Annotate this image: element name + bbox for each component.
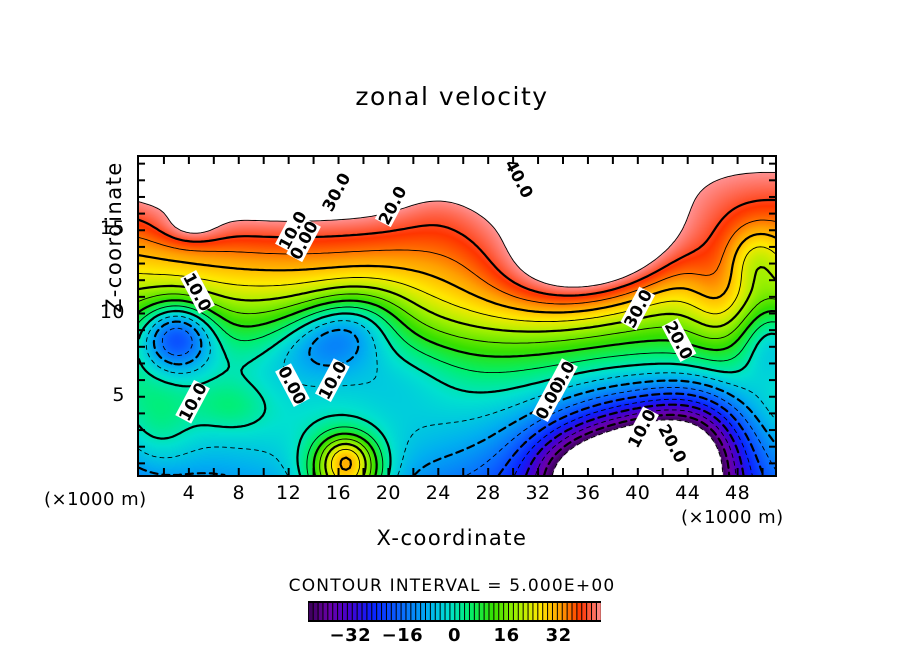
x-axis-tick: 12 [264,482,314,504]
colorbar-tick: −16 [372,625,432,646]
x-axis-tick: 24 [413,482,463,504]
colorbar-swatches [308,601,601,622]
x-axis-tick: 16 [314,482,364,504]
x-axis-tick: 48 [713,482,763,504]
plot-frame: 40.030.030.020.020.010.010.010.010.010.0… [137,155,777,477]
x-axis-tick: 28 [463,482,513,504]
x-axis-tick: 8 [214,482,264,504]
colorbar: −32−1601632 [308,601,601,622]
colorbar-tick: 16 [477,625,537,646]
y-axis-tick: 15 [85,217,125,239]
y-axis-tick: 5 [85,384,125,406]
colorbar-tick: 0 [425,625,485,646]
x-axis-title: X-coordinate [0,526,904,550]
chart-title: zonal velocity [0,82,904,111]
x-axis-unit-right: (×1000 m) [681,507,784,528]
colorbar-tick: −32 [320,625,380,646]
x-axis-tick: 36 [563,482,613,504]
x-axis-unit-left: (×1000 m) [44,489,147,510]
colorbar-tick: 32 [529,625,589,646]
figure-canvas: zonal velocity 40.030.030.020.020.010.01… [0,0,904,654]
plot-area: 40.030.030.020.020.010.010.010.010.010.0… [137,155,777,477]
x-axis-tick: 20 [363,482,413,504]
x-axis-tick: 32 [513,482,563,504]
x-axis-tick: 40 [613,482,663,504]
contour-field: 40.030.030.020.020.010.010.010.010.010.0… [139,157,775,475]
y-axis-tick: 10 [85,301,125,323]
x-axis-tick: 4 [164,482,214,504]
x-axis-tick: 44 [663,482,713,504]
colorbar-caption: CONTOUR INTERVAL = 5.000E+00 [0,576,904,596]
